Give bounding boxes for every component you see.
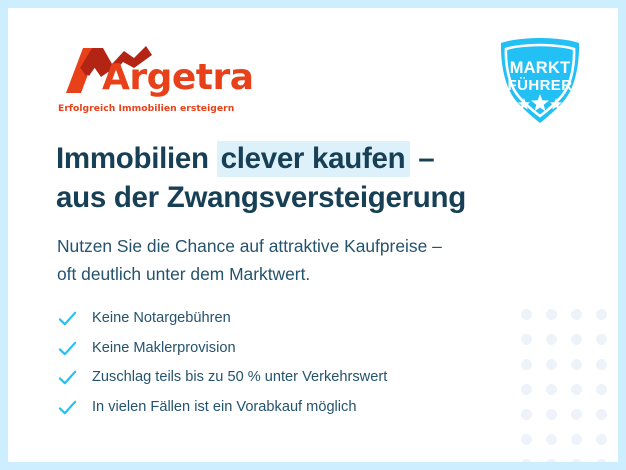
grid-dot: [521, 459, 532, 462]
grid-dot: [546, 384, 557, 395]
benefit-list: Keine NotargebührenKeine Maklerprovision…: [58, 304, 528, 422]
subtitle-line-2: oft deutlich unter dem Marktwert.: [57, 260, 557, 288]
grid-dot: [571, 409, 582, 420]
grid-dot: [521, 434, 532, 445]
grid-dot: [596, 409, 607, 420]
list-item: Keine Notargebühren: [58, 304, 528, 334]
grid-dot: [546, 434, 557, 445]
grid-dot: [596, 459, 607, 462]
grid-dot: [596, 434, 607, 445]
grid-dot: [596, 334, 607, 345]
headline-line1-pre: Immobilien: [56, 142, 217, 175]
list-item-label: Zuschlag teils bis zu 50 % unter Verkehr…: [92, 369, 387, 387]
list-item: Keine Maklerprovision: [58, 334, 528, 364]
headline-line2: aus der Zwangsversteigerung: [56, 179, 526, 218]
list-item: Zuschlag teils bis zu 50 % unter Verkehr…: [58, 363, 528, 393]
grid-dot: [571, 459, 582, 462]
check-icon: [58, 368, 77, 387]
banner-canvas: Argetra Erfolgreich Immobilien ersteiger…: [8, 8, 618, 462]
headline-line1-post: –: [410, 142, 434, 175]
grid-dot: [571, 359, 582, 370]
grid-dot: [546, 309, 557, 320]
check-icon: [58, 339, 77, 358]
grid-dot: [546, 409, 557, 420]
list-item-label: In vielen Fällen ist ein Vorabkauf mögli…: [92, 399, 356, 417]
subtitle: Nutzen Sie die Chance auf attraktive Kau…: [57, 232, 557, 288]
grid-dot: [571, 334, 582, 345]
grid-dot: [596, 359, 607, 370]
grid-dot: [596, 384, 607, 395]
dot-grid-decoration: [521, 309, 618, 429]
grid-dot: [571, 309, 582, 320]
headline-highlight: clever kaufen: [217, 141, 411, 177]
grid-dot: [571, 434, 582, 445]
grid-dot: [546, 334, 557, 345]
promo-banner: Argetra Erfolgreich Immobilien ersteiger…: [0, 0, 626, 470]
list-item-label: Keine Maklerprovision: [92, 340, 236, 358]
shield-icon: [493, 36, 587, 126]
argetra-tagline: Erfolgreich Immobilien ersteigern: [58, 103, 234, 114]
argetra-logo[interactable]: Argetra Erfolgreich Immobilien ersteiger…: [56, 46, 256, 114]
grid-dot: [546, 459, 557, 462]
check-icon: [58, 309, 77, 328]
list-item-label: Keine Notargebühren: [92, 310, 231, 328]
argetra-wordmark: Argetra: [102, 60, 254, 96]
list-item: In vielen Fällen ist ein Vorabkauf mögli…: [58, 393, 528, 423]
subtitle-line-1: Nutzen Sie die Chance auf attraktive Kau…: [57, 232, 557, 260]
check-icon: [58, 398, 77, 417]
grid-dot: [546, 359, 557, 370]
grid-dot: [571, 384, 582, 395]
grid-dot: [596, 309, 607, 320]
page-title: Immobilien clever kaufen – aus der Zwang…: [56, 140, 526, 218]
marktfuehrer-badge: MARKT FÜHRER: [493, 36, 587, 126]
